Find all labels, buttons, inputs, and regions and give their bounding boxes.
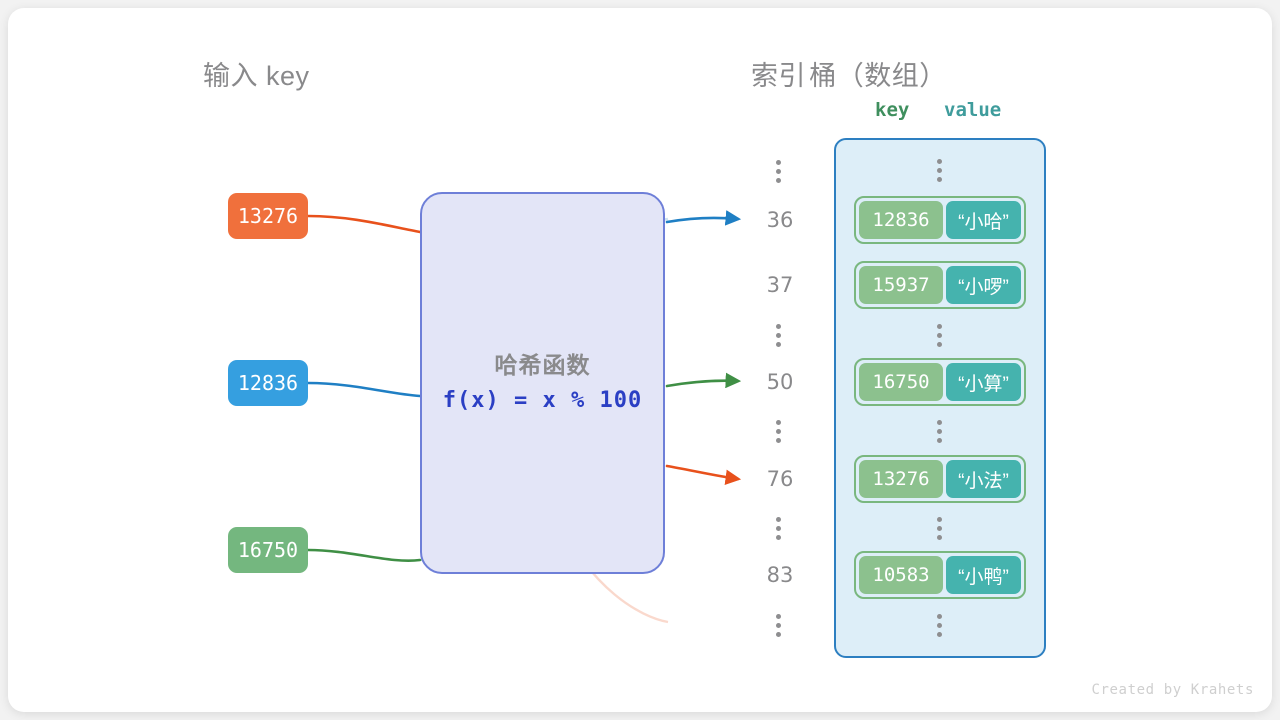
bucket-entry[interactable]: 16750 “小算” [854,358,1026,406]
bucket-entry-value: “小啰” [946,266,1021,304]
diagram-canvas: 输入 key 索引 桶（数组） key value [0,0,1280,720]
hash-function-box: 哈希函数 f(x) = x % 100 [420,192,665,574]
input-key-value: 16750 [238,538,298,562]
heading-index: 索引 [751,54,806,93]
bucket-ellipsis-icon [937,517,943,540]
bucket-entry[interactable]: 12836 “小哈” [854,196,1026,244]
bucket-entry-key: 15937 [859,266,943,304]
credit-text: Created by Krahets [1091,682,1254,698]
heading-input-key: 输入 key [203,54,310,93]
label-key: key [875,99,909,121]
index-ellipsis-icon [776,517,782,540]
index-ellipsis-icon [776,160,782,183]
bucket-ellipsis-icon [937,614,943,637]
hash-function-title: 哈希函数 [422,346,663,380]
index-ellipsis-icon [776,420,782,443]
input-key-value: 13276 [238,204,298,228]
input-key-chip[interactable]: 13276 [228,193,308,239]
bucket-entry[interactable]: 15937 “小啰” [854,261,1026,309]
index-ellipsis-icon [776,324,782,347]
bucket-ellipsis-icon [937,324,943,347]
input-key-chip[interactable]: 12836 [228,360,308,406]
index-value: 76 [760,467,800,491]
index-value: 37 [760,273,800,297]
bucket-entry-key: 16750 [859,363,943,401]
bucket-ellipsis-icon [937,159,943,182]
input-key-value: 12836 [238,371,298,395]
index-value: 50 [760,370,800,394]
bucket-entry-value: “小哈” [946,201,1021,239]
bucket-entry-value: “小鸭” [946,556,1021,594]
bucket-entry-key: 12836 [859,201,943,239]
index-value: 83 [760,563,800,587]
index-value: 36 [760,208,800,232]
bucket-entry-key: 10583 [859,556,943,594]
heading-bucket: 桶（数组） [809,54,947,93]
hash-function-formula: f(x) = x % 100 [422,388,663,413]
label-value: value [944,99,1001,121]
bucket-entry-value: “小算” [946,363,1021,401]
index-ellipsis-icon [776,614,782,637]
bucket-entry-key: 13276 [859,460,943,498]
bucket-entry[interactable]: 10583 “小鸭” [854,551,1026,599]
input-key-chip[interactable]: 16750 [228,527,308,573]
bucket-entry[interactable]: 13276 “小法” [854,455,1026,503]
bucket-ellipsis-icon [937,420,943,443]
bucket-entry-value: “小法” [946,460,1021,498]
